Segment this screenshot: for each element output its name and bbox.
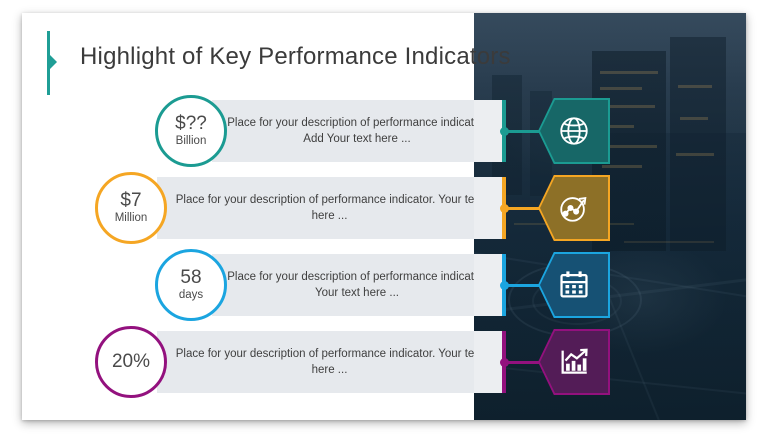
kpi-connector-line <box>506 130 542 133</box>
slide-stage: Highlight of Key Performance Indicators … <box>0 0 768 441</box>
kpi-icon-badge[interactable] <box>538 98 610 164</box>
kpi-value-circle: $?? Billion <box>155 95 227 167</box>
kpi-description: Place for your description of performanc… <box>157 192 502 224</box>
calendar-icon <box>557 268 591 302</box>
page-title: Highlight of Key Performance Indicators <box>80 43 511 71</box>
kpi-description-panel: Place for your description of performanc… <box>157 177 502 239</box>
bar-chart-growth-icon <box>557 345 591 379</box>
kpi-icon-badge[interactable] <box>538 252 610 318</box>
kpi-connector-line <box>506 284 542 287</box>
trend-scatter-arrow-icon <box>557 191 591 225</box>
kpi-value: 58 <box>180 268 201 288</box>
title-accent-marker <box>47 31 50 95</box>
slide-card: Highlight of Key Performance Indicators … <box>22 13 746 420</box>
kpi-icon-badge[interactable] <box>538 329 610 395</box>
kpi-row: Place for your description of performanc… <box>22 331 746 393</box>
kpi-description-panel: Place for your description of performanc… <box>212 254 502 316</box>
kpi-row: Place for your description of performanc… <box>22 177 746 239</box>
kpi-row: Place for your description of performanc… <box>22 100 746 162</box>
kpi-value: $7 <box>120 191 141 211</box>
kpi-value-circle: $7 Million <box>95 172 167 244</box>
kpi-value: 20% <box>112 352 150 372</box>
kpi-unit: Million <box>115 211 148 225</box>
kpi-value: $?? <box>175 114 207 134</box>
kpi-unit: days <box>179 288 203 302</box>
kpi-description-panel: Place for your description of performanc… <box>157 331 502 393</box>
kpi-connector-line <box>506 207 542 210</box>
kpi-description: Place for your description of performanc… <box>157 346 502 378</box>
kpi-icon-badge[interactable] <box>538 175 610 241</box>
kpi-description-panel: Place for your description of performanc… <box>212 100 502 162</box>
kpi-connector-line <box>506 361 542 364</box>
globe-icon <box>557 114 591 148</box>
kpi-unit: Billion <box>176 134 207 148</box>
kpi-value-circle: 58 days <box>155 249 227 321</box>
kpi-description: Place for your description of performanc… <box>212 115 502 147</box>
kpi-row: Place for your description of performanc… <box>22 254 746 316</box>
kpi-description: Place for your description of performanc… <box>213 269 501 301</box>
kpi-value-circle: 20% <box>95 326 167 398</box>
